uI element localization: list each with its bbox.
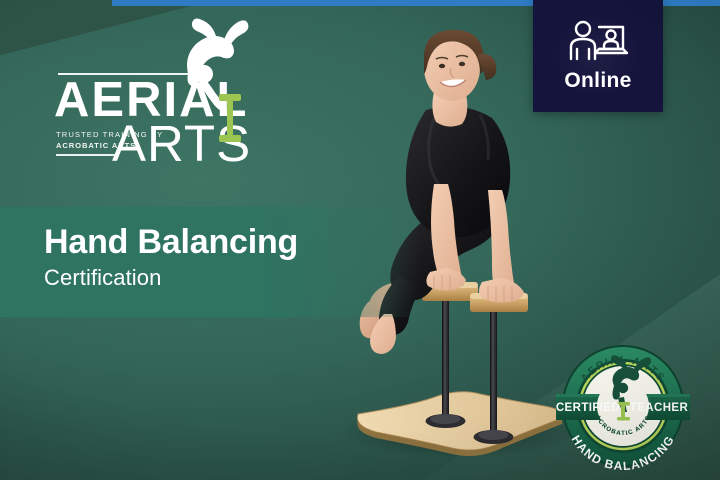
logo-bottom-rule bbox=[56, 154, 116, 156]
course-banner: AERIAL TRUSTED TRAINING BY ACROBATIC ART… bbox=[0, 0, 720, 480]
online-badge-label: Online bbox=[564, 69, 631, 93]
certification-seal: AERIAL ARTS ACROBATIC ARTS bbox=[548, 340, 698, 470]
page-subtitle: Certification bbox=[44, 264, 298, 292]
title-block: Hand Balancing Certification bbox=[44, 222, 298, 292]
person-at-laptop-icon bbox=[567, 19, 629, 63]
seal-label-teacher: TEACHER bbox=[630, 402, 689, 414]
aerial-arts-logo: AERIAL TRUSTED TRAINING BY ACROBATIC ART… bbox=[44, 58, 259, 173]
page-title: Hand Balancing bbox=[44, 222, 298, 262]
seal-label-certified: CERTIFIED bbox=[556, 402, 620, 414]
online-badge[interactable]: Online bbox=[533, 0, 663, 112]
handstand-cane-icon bbox=[217, 94, 243, 144]
